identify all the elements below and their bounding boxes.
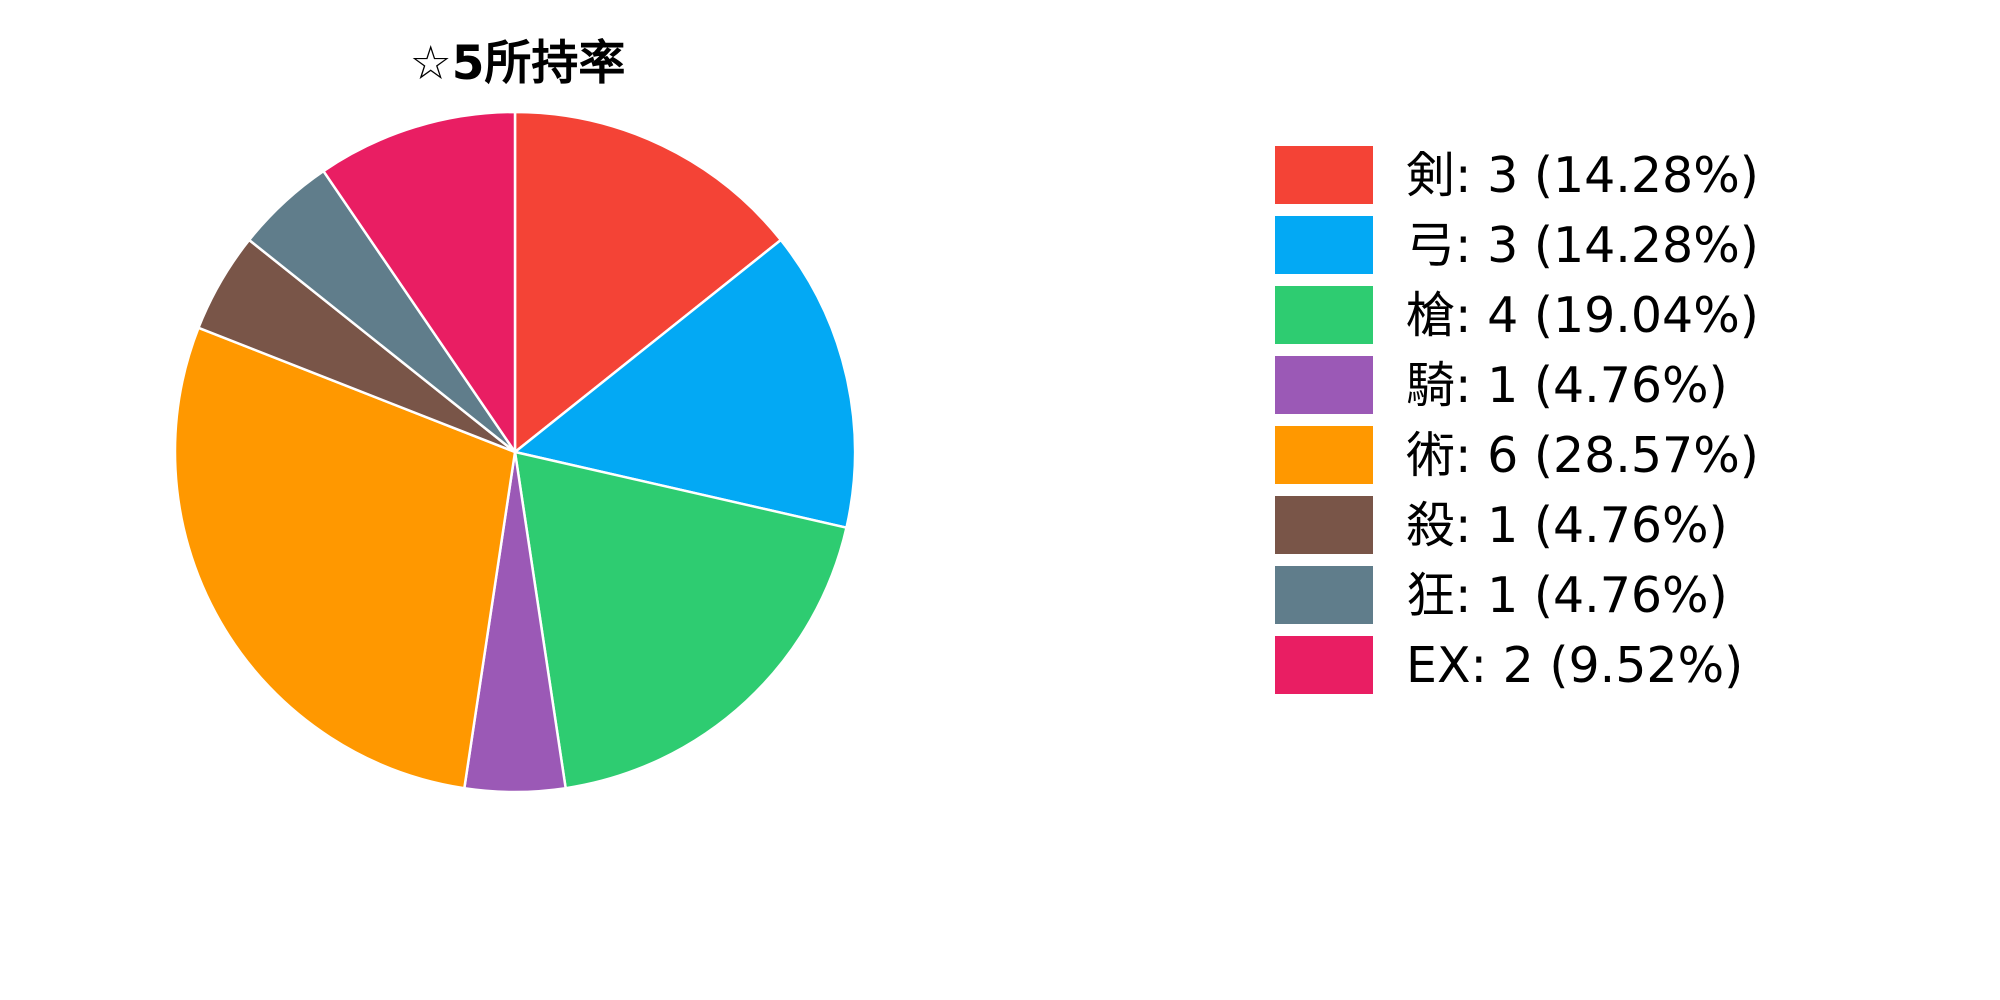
chart-figure: ☆5所持率 剣: 3 (14.28%)弓: 3 (14.28%)槍: 4 (19… xyxy=(0,0,2000,1000)
legend-label: 殺: 1 (4.76%) xyxy=(1406,501,1728,550)
legend-item: 殺: 1 (4.76%) xyxy=(1275,490,1975,560)
pie-chart-svg xyxy=(0,0,1035,1000)
legend-item: 騎: 1 (4.76%) xyxy=(1275,350,1975,420)
chart-legend: 剣: 3 (14.28%)弓: 3 (14.28%)槍: 4 (19.04%)騎… xyxy=(1275,140,1975,700)
pie-slices-group xyxy=(175,112,855,792)
legend-label: 術: 6 (28.57%) xyxy=(1406,431,1759,480)
legend-label: 剣: 3 (14.28%) xyxy=(1406,151,1759,200)
legend-swatch-弓 xyxy=(1275,216,1373,274)
legend-label: 狂: 1 (4.76%) xyxy=(1406,571,1728,620)
legend-item: 弓: 3 (14.28%) xyxy=(1275,210,1975,280)
legend-swatch-術 xyxy=(1275,426,1373,484)
legend-swatch-狂 xyxy=(1275,566,1373,624)
legend-label: EX: 2 (9.52%) xyxy=(1406,641,1743,690)
legend-item: 槍: 4 (19.04%) xyxy=(1275,280,1975,350)
legend-label: 騎: 1 (4.76%) xyxy=(1406,361,1728,410)
legend-swatch-剣 xyxy=(1275,146,1373,204)
legend-item: 術: 6 (28.57%) xyxy=(1275,420,1975,490)
legend-swatch-槍 xyxy=(1275,286,1373,344)
legend-label: 槍: 4 (19.04%) xyxy=(1406,291,1759,340)
legend-item: EX: 2 (9.52%) xyxy=(1275,630,1975,700)
legend-swatch-騎 xyxy=(1275,356,1373,414)
legend-item: 狂: 1 (4.76%) xyxy=(1275,560,1975,630)
legend-swatch-EX xyxy=(1275,636,1373,694)
legend-item: 剣: 3 (14.28%) xyxy=(1275,140,1975,210)
pie-chart-area xyxy=(0,0,1035,1000)
legend-swatch-殺 xyxy=(1275,496,1373,554)
legend-label: 弓: 3 (14.28%) xyxy=(1406,221,1759,270)
